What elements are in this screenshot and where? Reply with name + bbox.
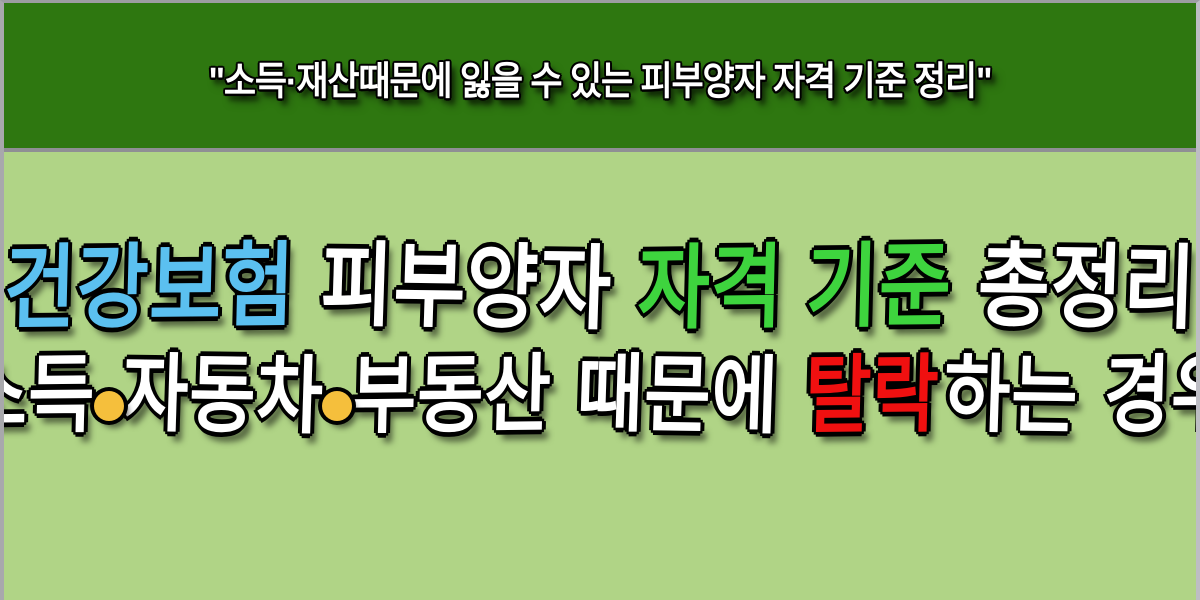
bullet-dot-icon: [322, 391, 352, 421]
headline-segment-sodeuk: 소득: [0, 353, 99, 439]
headline-segment-tallak: 탈락: [802, 353, 943, 439]
headline-segment-chongjeongni: 총정리: [974, 239, 1199, 334]
headline-body: 건강보험 피부양자 자격 기준 총정리 소득 자동차 부동산 때문에 탈락 하는…: [4, 152, 1196, 600]
headline-segment-geongangboheom: 건강보험: [1, 239, 298, 334]
headline-line-1: 건강보험 피부양자 자격 기준 총정리: [2, 248, 1198, 326]
headline-segment-gyeongu: 경우: [1101, 353, 1200, 439]
bullet-dot-icon: [94, 391, 124, 421]
headline-segment-ttaemune: 때문에: [574, 352, 782, 440]
headline-segment-jadongcha: 자동차: [119, 352, 327, 440]
headline-segment-budongsan: 부동산: [347, 352, 555, 439]
headline-segment-haneun: 하는: [940, 353, 1081, 440]
header-band: "소득·재산때문에 잃을 수 있는 피부양자 자격 기준 정리": [4, 3, 1196, 148]
headline-segment-jagyeok-gijun: 자격 기준: [635, 239, 955, 334]
headline-line-2: 소득 자동차 부동산 때문에 탈락 하는 경우: [0, 360, 1200, 432]
headline-segment-pibuyangja: 피부양자: [318, 239, 616, 335]
thumbnail-canvas: "소득·재산때문에 잃을 수 있는 피부양자 자격 기준 정리" 건강보험 피부…: [0, 0, 1200, 600]
header-title: "소득·재산때문에 잃을 수 있는 피부양자 자격 기준 정리": [209, 50, 992, 107]
